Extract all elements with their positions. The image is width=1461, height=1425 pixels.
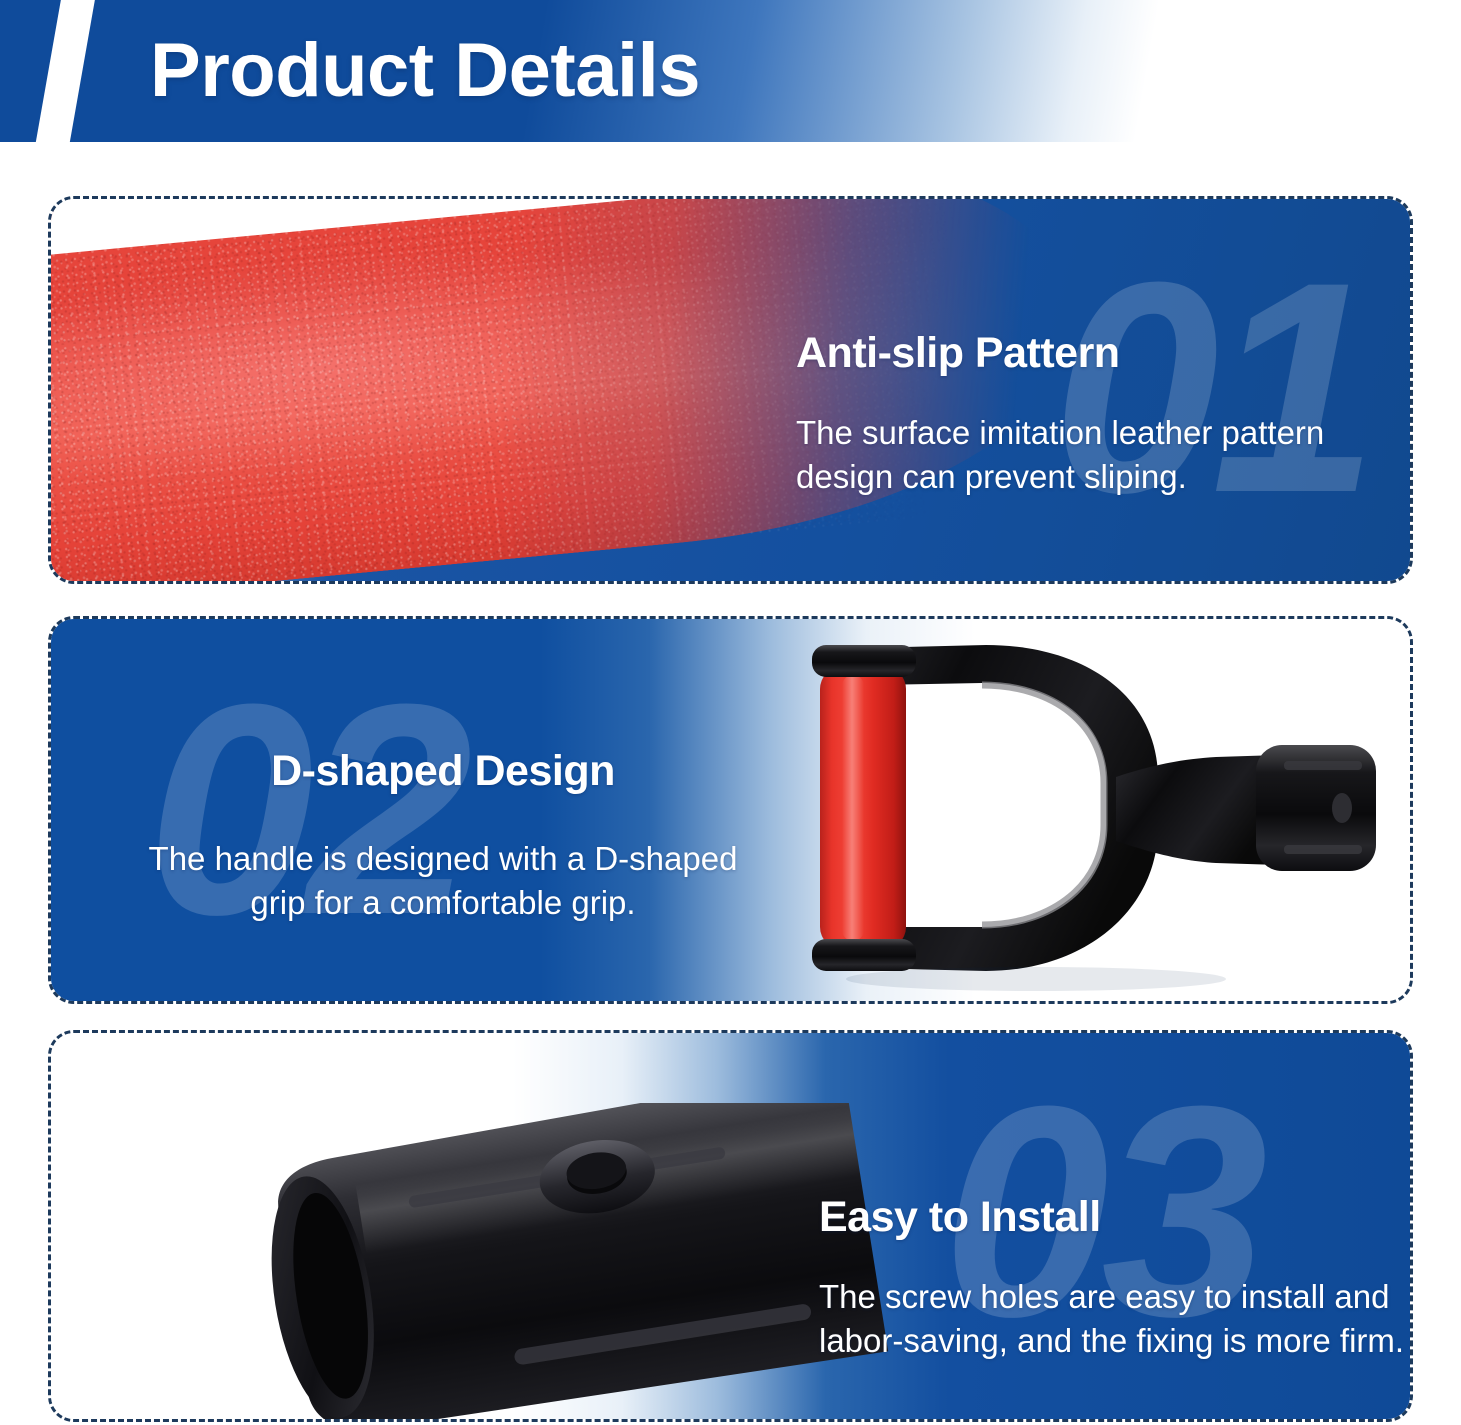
card-01-description: The surface imitation leather pattern de…: [796, 411, 1406, 499]
card-01-title: Anti-slip Pattern: [796, 329, 1406, 377]
feature-card-03: 03 Easy to Install The screw holes are e…: [48, 1030, 1413, 1422]
card-03-title: Easy to Install: [819, 1193, 1413, 1241]
card-03-text-block: Easy to Install The screw holes are easy…: [819, 1193, 1413, 1363]
card-01-text-block: Anti-slip Pattern The surface imitation …: [796, 329, 1406, 499]
page-title: Product Details: [150, 20, 700, 122]
card-02-text-block: D-shaped Design The handle is designed w…: [123, 747, 763, 925]
black-tube-screw-hole-photo-image: [171, 1103, 931, 1422]
page-header: Product Details: [0, 0, 1461, 142]
feature-card-02: 02: [48, 616, 1413, 1004]
d-shaped-handle-photo-image: [786, 627, 1413, 999]
card-02-title: D-shaped Design: [123, 747, 763, 795]
feature-card-01: 01 Anti-slip Pattern The surface imitati…: [48, 196, 1413, 584]
card-03-description: The screw holes are easy to install and …: [819, 1275, 1413, 1363]
card-02-description: The handle is designed with a D-shaped g…: [123, 837, 763, 925]
